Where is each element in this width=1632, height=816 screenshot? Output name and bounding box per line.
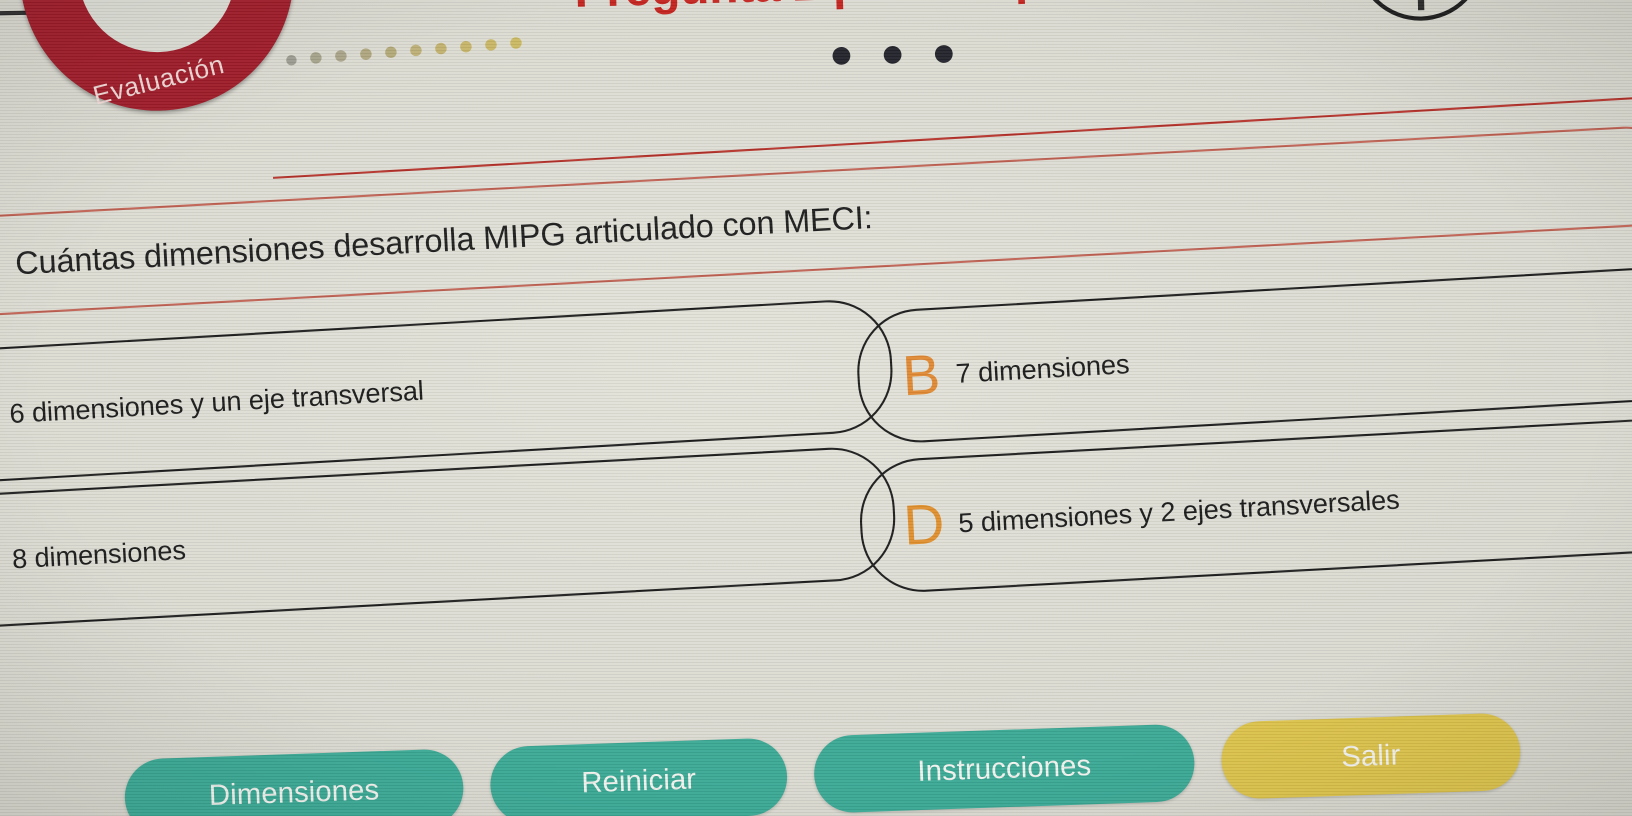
option-letter-d: D [888, 495, 960, 555]
instrucciones-button[interactable]: Instrucciones [813, 723, 1196, 813]
option-text-a: 6 dimensiones y un eje transversal [9, 374, 425, 430]
badge-inner-hole [77, 0, 237, 54]
timer-tick [1418, 0, 1425, 10]
timer-icon [1354, 0, 1486, 22]
trail-dot [335, 50, 347, 62]
trail-dot [435, 42, 447, 54]
option-text-b: 7 dimensiones [955, 348, 1130, 390]
trail-dot [360, 48, 372, 60]
salir-button[interactable]: Salir [1220, 712, 1521, 799]
quiz-screen: Evaluación Pregunta 2 por 200 puntos [0, 0, 1632, 816]
footer-toolbar: Dimensiones Reiniciar Instrucciones Sali… [0, 707, 1632, 816]
progress-dot [884, 46, 902, 64]
option-text-d: 5 dimensiones y 2 ejes transversales [958, 483, 1401, 539]
badge-label: Evaluación [90, 50, 227, 112]
page-title: Pregunta 2 por 200 puntos [573, 0, 1173, 18]
answer-option-b[interactable]: B 7 dimensiones [854, 260, 1632, 446]
trail-dot [286, 55, 297, 66]
trail-dot [410, 44, 422, 56]
trail-dot [385, 46, 397, 58]
progress-indicator [832, 45, 952, 65]
trail-dot [510, 37, 522, 49]
progress-dot [832, 47, 850, 65]
dimensiones-button[interactable]: Dimensiones [124, 748, 465, 816]
evaluacion-badge: Evaluación [18, 0, 297, 113]
trail-dot [460, 41, 472, 53]
trail-dot [485, 39, 497, 51]
question-text: Cuántas dimensiones desarrolla MIPG arti… [0, 199, 874, 290]
reiniciar-button[interactable]: Reiniciar [489, 737, 788, 816]
decorative-dot-trail [286, 37, 522, 66]
option-text-c: 8 dimensiones [11, 533, 186, 575]
trail-dot [310, 52, 322, 64]
progress-dot [935, 45, 953, 63]
option-letter-b: B [885, 345, 957, 405]
